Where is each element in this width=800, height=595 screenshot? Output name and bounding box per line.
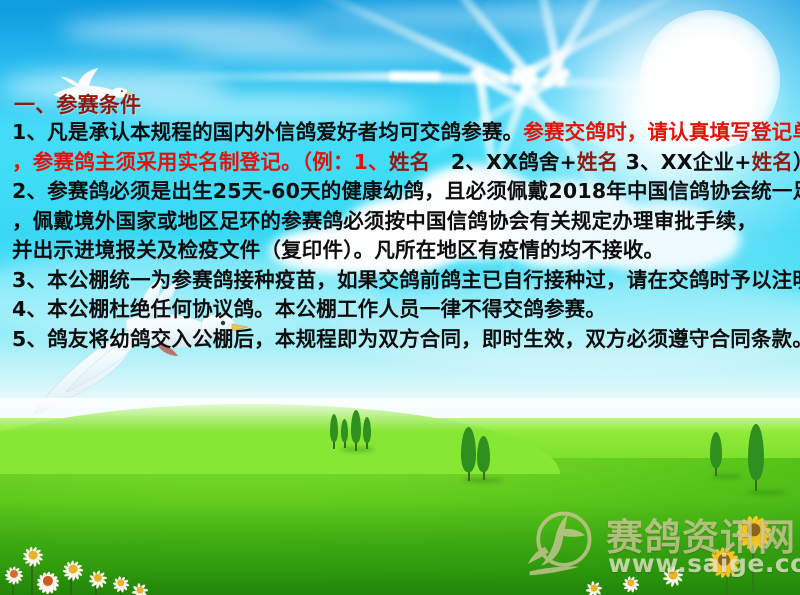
rule-line-3: 3、本公棚统一为参赛鸽接种疫苗，如果交鸽前鸽主已自行接种过，请在交鸽时予以注明	[12, 266, 800, 296]
rule-line-1: 1、凡是承认本规程的国内外信鸽爱好者均可交鸽参赛。参赛交鸽时，请认真填写登记单	[12, 118, 800, 148]
tree-trunk	[366, 443, 368, 449]
cypress-tree	[330, 414, 338, 449]
rule-line-2-cont-b: 并出示进境报关及检疫文件（复印件）。凡所在地区有疫情的均不接收。	[12, 236, 800, 266]
rule-1-text-b: 参赛交鸽时，请认真填写登记单	[523, 120, 800, 144]
daisy-flower	[86, 566, 110, 590]
tree-crown	[351, 410, 361, 443]
tree-trunk	[755, 480, 757, 491]
tree-crown	[477, 436, 490, 472]
daisy-flower	[60, 556, 86, 582]
cypress-tree	[477, 436, 490, 480]
tree-trunk	[468, 472, 470, 481]
rule-line-5: 5、鸽友将幼鸽交入公棚后，本规程即为双方合同，即时生效，双方必须遵守合同条款。	[12, 325, 800, 355]
regulation-text-block: 一、参赛条件 1、凡是承认本规程的国内外信鸽爱好者均可交鸽参赛。参赛交鸽时，请认…	[0, 92, 800, 354]
poster-canvas: 一、参赛条件 1、凡是承认本规程的国内外信鸽爱好者均可交鸽参赛。参赛交鸽时，请认…	[0, 0, 800, 595]
tree-trunk	[715, 468, 717, 476]
tree-trunk	[483, 472, 485, 480]
tree-crown	[710, 432, 722, 468]
rule-line-2-cont-a: ，佩戴境外国家或地区足环的参赛鸽必须按中国信鸽协会有关规定办理审批手续，	[12, 207, 800, 237]
tree-crown	[461, 427, 476, 472]
sun-ray	[140, 72, 440, 81]
pigeon-logo-icon	[524, 505, 600, 581]
tree-crown	[341, 419, 348, 442]
cypress-tree	[748, 424, 764, 491]
tree-crown	[748, 424, 764, 480]
rule-line-4: 4、本公棚杜绝任何协议鸽。本公棚工作人员一律不得交鸽参赛。	[12, 295, 800, 325]
cypress-tree	[351, 410, 361, 451]
cypress-tree	[710, 432, 722, 476]
rule-1c-text-a: ，参赛鸽主须采用实名制登记。（例：1、	[12, 150, 389, 174]
watermark-url: www.saige.com	[608, 549, 800, 578]
daisy-flower	[110, 572, 132, 594]
horizon-haze	[0, 398, 800, 432]
rule-line-2: 2、参赛鸽必须是出生25天-60天的健康幼鸽，且必须佩戴2018年中国信鸽协会统…	[12, 177, 800, 207]
flower-center	[137, 587, 144, 594]
rule-1c-text-b: 姓名	[389, 150, 430, 174]
cypress-tree	[341, 419, 348, 448]
tree-trunk	[355, 443, 357, 451]
section-heading: 一、参赛条件	[14, 92, 800, 118]
tree-crown	[363, 417, 371, 443]
tree-trunk	[333, 442, 335, 449]
rule-1c-text-f: 姓名	[752, 150, 793, 174]
rule-1c-text-e: 3、XX企业+	[618, 150, 751, 174]
daisy-flower	[33, 566, 63, 595]
daisy-flower	[130, 580, 150, 595]
site-watermark: 赛鸽资讯网 www.saige.com	[522, 503, 786, 587]
rule-1c-text-d: 姓名	[577, 150, 618, 174]
rule-1c-text-g: ）	[793, 150, 800, 174]
cypress-tree	[363, 417, 371, 449]
daisy-flower	[2, 562, 26, 586]
tree-trunk	[344, 442, 346, 448]
flower-center	[29, 551, 38, 560]
cypress-tree	[461, 427, 476, 481]
rule-1c-text-c: 2、XX鸽舍+	[430, 150, 577, 174]
flower-center	[69, 565, 78, 574]
rule-1-text-a: 1、凡是承认本规程的国内外信鸽爱好者均可交鸽参赛。	[12, 120, 523, 144]
rule-line-1-cont: ，参赛鸽主须采用实名制登记。（例：1、姓名 2、XX鸽舍+姓名 3、XX企业+姓…	[12, 148, 800, 178]
tree-crown	[330, 414, 338, 442]
